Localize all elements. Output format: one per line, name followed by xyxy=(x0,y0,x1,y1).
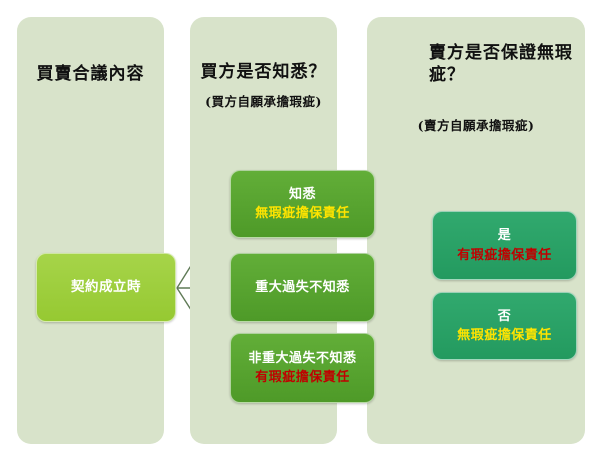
node-contract-formation[interactable]: 契約成立時 xyxy=(36,253,176,322)
column-subtitle-seller-warranty: (賣方自願承擔瑕疵) xyxy=(367,115,585,134)
node-result-slight-negligence-unaware: 有瑕疵擔保責任 xyxy=(255,368,350,388)
node-slight-negligence-unaware[interactable]: 非重大過失不知悉 有瑕疵擔保責任 xyxy=(230,333,375,403)
node-result-buyer-knows: 無瑕疵擔保責任 xyxy=(255,204,350,224)
node-label-warranty-no: 否 xyxy=(498,307,512,327)
column-title-buyer-awareness: 買方是否知悉？ xyxy=(190,61,337,83)
node-label-buyer-knows: 知悉 xyxy=(289,185,316,205)
node-label-contract-formation: 契約成立時 xyxy=(71,277,141,297)
node-label-gross-negligence-unaware: 重大過失不知悉 xyxy=(255,278,350,298)
column-panel-contract-content: 買賣合議內容 xyxy=(17,17,164,444)
node-buyer-knows[interactable]: 知悉 無瑕疵擔保責任 xyxy=(230,170,375,238)
node-result-warranty-yes: 有瑕疵擔保責任 xyxy=(457,246,552,266)
flowchart-diagram: 買賣合議內容 買方是否知悉？ (買方自願承擔瑕疵) 賣方是否保證無瑕疵？ (賣方… xyxy=(0,0,600,459)
column-subtitle-buyer-awareness: (買方自願承擔瑕疵) xyxy=(190,91,337,110)
column-title-seller-warranty: 賣方是否保證無瑕疵？ xyxy=(367,42,585,87)
node-label-slight-negligence-unaware: 非重大過失不知悉 xyxy=(248,349,356,369)
node-result-warranty-no: 無瑕疵擔保責任 xyxy=(457,326,552,346)
node-warranty-yes[interactable]: 是 有瑕疵擔保責任 xyxy=(432,211,577,280)
node-warranty-no[interactable]: 否 無瑕疵擔保責任 xyxy=(432,292,577,360)
node-gross-negligence-unaware[interactable]: 重大過失不知悉 xyxy=(230,253,375,322)
column-title-contract-content: 買賣合議內容 xyxy=(17,63,164,85)
node-label-warranty-yes: 是 xyxy=(498,226,512,246)
